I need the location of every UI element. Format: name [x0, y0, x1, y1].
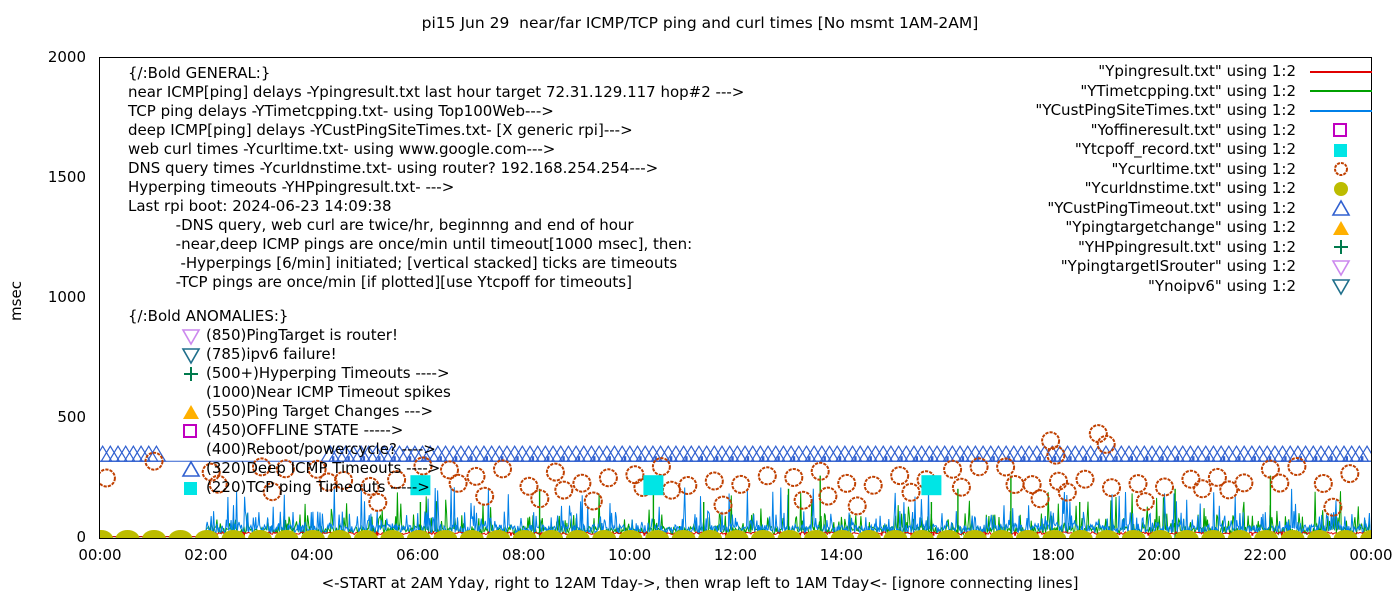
web-curl-time-marker: [865, 477, 882, 494]
legend-key-open-triangle-down-icon: [1304, 258, 1378, 276]
web-curl-time-marker: [663, 482, 680, 499]
near-icmp-tick: [1148, 533, 1150, 536]
annotation-line: -Hyperpings [6/min] initiated; [vertical…: [128, 254, 744, 273]
deep-icmp-timeout-stack: [516, 456, 518, 461]
legend-entry-label: "YpingtargetISrouter" using 1:2: [1061, 257, 1296, 277]
legend-key-filled-square-icon: [1304, 141, 1378, 159]
y-tick-label: 500: [0, 410, 86, 425]
web-curl-time-marker: [99, 470, 115, 487]
legend-entry-label: "Ycurldnstime.txt" using 1:2: [1085, 179, 1296, 199]
legend-entry[interactable]: "YCustPingSiteTimes.txt" using 1:2: [958, 101, 1378, 121]
deep-icmp-timeout-stack: [1069, 456, 1071, 461]
x-tick-label: 12:00: [696, 546, 776, 564]
y-tick-label: 1000: [0, 290, 86, 305]
web-curl-time-marker: [1235, 474, 1252, 491]
web-curl-time-marker: [1077, 471, 1094, 488]
annotation-line: Hyperping timeouts -YHPpingresult.txt- -…: [128, 178, 744, 197]
web-curl-time-marker: [1103, 479, 1120, 496]
deep-icmp-timeout-stack: [839, 456, 841, 461]
web-curl-time-marker: [1324, 499, 1341, 516]
y-tick-label: 0: [0, 530, 86, 545]
deep-icmp-timeout-stack: [854, 456, 856, 461]
x-tick-label: 02:00: [166, 546, 246, 564]
x-tick-label: 00:00: [60, 546, 140, 564]
anomaly-row: (500+)Hyperping Timeouts ---->: [128, 364, 451, 383]
legend-line-swatch: [1310, 90, 1372, 92]
legend-key-open-triangle-up-icon: [1304, 199, 1378, 217]
anomaly-row: (400)Reboot/powercycle? ---->: [128, 440, 451, 459]
anomaly-label: (220)TCP ping Timeouts ----->: [206, 478, 430, 497]
x-tick-label: 22:00: [1225, 546, 1305, 564]
deep-icmp-timeout-stack: [1085, 456, 1087, 461]
near-icmp-tick: [1014, 533, 1016, 536]
legend-entry[interactable]: "YCustPingTimeout.txt" using 1:2: [958, 199, 1378, 219]
dns-query-time-marker: [407, 530, 431, 539]
deep-icmp-timeout-stack: [824, 456, 826, 461]
x-axis-label: <-START at 2AM Yday, right to 12AM Tday-…: [0, 574, 1400, 592]
dns-query-time-marker: [1228, 530, 1252, 539]
legend-entry[interactable]: "Ypingresult.txt" using 1:2: [958, 62, 1378, 82]
deep-icmp-timeout-stack: [1039, 456, 1041, 461]
web-curl-time-marker: [521, 478, 538, 495]
deep-icmp-timeout-stack: [962, 456, 964, 461]
legend-entry[interactable]: "YTimetcpping.txt" using 1:2: [958, 82, 1378, 102]
annotation-heading-anomalies: {/:Bold ANOMALIES:}: [128, 307, 451, 326]
annotation-line: DNS query times -Ycurldnstime.txt- using…: [128, 159, 744, 178]
anomaly-label: (785)ipv6 failure!: [206, 345, 337, 364]
deep-icmp-timeout-stack: [532, 456, 534, 461]
web-curl-time-marker: [626, 466, 643, 483]
deep-icmp-timeout-stack: [593, 456, 595, 461]
annotation-line: Last rpi boot: 2024-06-23 14:09:38: [128, 197, 744, 216]
anomaly-filled-square-icon: [128, 479, 206, 497]
legend-key-line-icon: [1304, 90, 1378, 92]
x-tick-label: 14:00: [801, 546, 881, 564]
annotation-line: -DNS query, web curl are twice/hr, begin…: [128, 216, 744, 235]
annotation-line: web curl times -Ycurltime.txt- using www…: [128, 140, 744, 159]
web-curl-time-marker: [573, 475, 590, 492]
legend-entry[interactable]: "Ytcpoff_record.txt" using 1:2: [958, 140, 1378, 160]
legend-entry[interactable]: "Ypingtargetchange" using 1:2: [958, 218, 1378, 238]
web-curl-time-marker: [476, 488, 493, 505]
deep-icmp-timeout-stack: [1054, 456, 1056, 461]
anomaly-row: (850)PingTarget is router!: [128, 326, 451, 345]
x-tick-label: 16:00: [907, 546, 987, 564]
deep-icmp-timeout-stack: [1115, 456, 1117, 461]
web-curl-time-marker: [1315, 475, 1332, 492]
legend-key-open-circle-icon: [1304, 160, 1378, 178]
annotations-anomalies: {/:Bold ANOMALIES:}(850)PingTarget is ro…: [128, 307, 451, 497]
deep-icmp-timeout-stack: [470, 456, 472, 461]
deep-icmp-timeout-stack: [946, 456, 948, 461]
deep-icmp-timeout-stack: [455, 456, 457, 461]
legend-key-line-icon: [1304, 71, 1378, 73]
deep-icmp-timeout-stack: [1284, 456, 1286, 461]
web-curl-time-marker: [903, 484, 920, 501]
y-tick-label: 1500: [0, 170, 86, 185]
web-curl-time-marker: [1341, 465, 1358, 482]
dns-query-time-marker: [99, 530, 113, 539]
web-curl-time-marker: [795, 492, 812, 509]
deep-icmp-timeout-stack: [885, 456, 887, 461]
web-curl-time-marker: [1032, 490, 1049, 507]
anomaly-label: (450)OFFLINE STATE ----->: [206, 421, 403, 440]
web-curl-time-marker: [1182, 471, 1199, 488]
anomaly-open-triangle-up-icon: [128, 460, 206, 478]
tcp-ping-timeout-marker: [643, 475, 663, 495]
legend-key-filled-triangle-up-icon: [1304, 219, 1378, 237]
deep-icmp-timeout-stack: [624, 456, 626, 461]
near-icmp-tick: [1251, 533, 1253, 536]
web-curl-time-marker: [944, 461, 961, 478]
web-curl-time-marker: [1137, 493, 1154, 510]
anomaly-row: (785)ipv6 failure!: [128, 345, 451, 364]
deep-icmp-timeout-stack: [1238, 456, 1240, 461]
deep-icmp-timeout-stack: [1146, 456, 1148, 461]
web-curl-time-marker: [706, 473, 723, 490]
x-tick-label: 20:00: [1119, 546, 1199, 564]
series-line-tcp-ping-delays: [100, 491, 1371, 536]
deep-icmp-timeout-stack: [1361, 456, 1363, 461]
anomaly-row: (450)OFFLINE STATE ----->: [128, 421, 451, 440]
annotations-general: {/:Bold GENERAL:}near ICMP[ping] delays …: [128, 64, 744, 292]
legend-entry[interactable]: "Ycurltime.txt" using 1:2: [958, 160, 1378, 180]
web-curl-time-marker: [1156, 479, 1173, 496]
legend-entry-label: "YCustPingTimeout.txt" using 1:2: [1047, 199, 1296, 219]
deep-icmp-timeout-stack: [870, 456, 872, 461]
legend-key-filled-circle-icon: [1304, 180, 1378, 198]
web-curl-time-marker: [679, 477, 696, 494]
dns-query-time-marker: [989, 530, 1013, 539]
web-curl-time-marker: [1209, 469, 1226, 486]
annotation-line: -TCP pings are once/min [if plotted][use…: [128, 273, 744, 292]
dns-query-time-marker: [619, 530, 643, 539]
x-tick-label: 00:00: [1331, 546, 1400, 564]
anomaly-label: (1000)Near ICMP Timeout spikes: [206, 383, 451, 402]
web-curl-time-marker: [450, 475, 467, 492]
web-curl-time-marker: [547, 464, 564, 481]
anomaly-label: (850)PingTarget is router!: [206, 326, 398, 345]
annotation-line: TCP ping delays -YTimetcpping.txt- using…: [128, 102, 744, 121]
deep-icmp-timeout-stack: [1254, 456, 1256, 461]
web-curl-time-marker: [1194, 480, 1211, 497]
deep-icmp-timeout-stack: [701, 456, 703, 461]
web-curl-time-marker: [1007, 476, 1024, 493]
anomaly-plus-icon: [128, 365, 206, 383]
deep-icmp-timeout-stack: [639, 456, 641, 461]
deep-icmp-timeout-stack: [762, 456, 764, 461]
anomaly-open-triangle-down-icon: [128, 327, 206, 345]
web-curl-time-marker: [1024, 476, 1041, 493]
dns-query-time-marker: [116, 530, 140, 539]
deep-icmp-timeout-stack: [1223, 456, 1225, 461]
web-curl-time-marker: [785, 469, 802, 486]
legend-entry-label: "YTimetcpping.txt" using 1:2: [1080, 82, 1296, 102]
x-tick-label: 08:00: [484, 546, 564, 564]
chart-root: pi15 Jun 29 near/far ICMP/TCP ping and c…: [0, 0, 1400, 600]
deep-icmp-timeout-stack: [747, 456, 749, 461]
legend-entry[interactable]: "Ycurldnstime.txt" using 1:2: [958, 179, 1378, 199]
dns-query-time-marker: [169, 530, 193, 539]
anomaly-row: (1000)Near ICMP Timeout spikes: [128, 383, 451, 402]
deep-icmp-timeout-stack: [562, 456, 564, 461]
web-curl-time-marker: [819, 488, 836, 505]
deep-icmp-timeout-stack: [900, 456, 902, 461]
web-curl-time-marker: [953, 479, 970, 496]
deep-icmp-timeout-stack: [685, 456, 687, 461]
anomaly-label: (500+)Hyperping Timeouts ---->: [206, 364, 450, 383]
deep-icmp-timeout-stack: [1023, 456, 1025, 461]
deep-icmp-timeout-stack: [486, 456, 488, 461]
deep-icmp-timeout-stack: [1192, 456, 1194, 461]
x-tick-label: 06:00: [378, 546, 458, 564]
web-curl-time-marker: [600, 469, 617, 486]
legend-line-swatch: [1310, 71, 1372, 73]
legend-entry-label: "YCustPingSiteTimes.txt" using 1:2: [1035, 101, 1296, 121]
dns-query-time-marker: [1069, 530, 1093, 539]
anomaly-label: (400)Reboot/powercycle? ---->: [206, 440, 436, 459]
legend-key-open-triangle-down-icon: [1304, 277, 1378, 295]
annotation-heading-general: {/:Bold GENERAL:}: [128, 64, 744, 83]
deep-icmp-timeout-stack: [808, 456, 810, 461]
legend-key-plus-icon: [1304, 238, 1378, 256]
deep-icmp-timeout-stack: [1161, 456, 1163, 461]
anomaly-label: (550)Ping Target Changes --->: [206, 402, 433, 421]
web-curl-time-marker: [891, 467, 908, 484]
web-curl-time-marker: [468, 468, 485, 485]
annotation-line: near ICMP[ping] delays -Ypingresult.txt …: [128, 83, 744, 102]
deep-icmp-timeout-stack: [547, 456, 549, 461]
legend-entry[interactable]: "Ynoipv6" using 1:2: [958, 277, 1378, 297]
near-icmp-tick: [643, 533, 645, 536]
deep-icmp-timeout-stack: [609, 456, 611, 461]
deep-icmp-timeout-stack: [1207, 456, 1209, 461]
legend-entry-label: "YHPpingresult.txt" using 1:2: [1078, 238, 1296, 258]
deep-icmp-timeout-stack: [1330, 456, 1332, 461]
anomaly-open-triangle-down-icon: [128, 346, 206, 364]
legend-entry-label: "Ypingresult.txt" using 1:2: [1098, 62, 1296, 82]
deep-icmp-timeout-stack: [793, 456, 795, 461]
web-curl-time-marker: [1130, 475, 1147, 492]
dns-query-time-marker: [804, 530, 828, 539]
web-curl-time-marker: [494, 460, 511, 477]
deep-icmp-timeout-stack: [916, 456, 918, 461]
legend-entry[interactable]: "YpingtargetISrouter" using 1:2: [958, 257, 1378, 277]
web-curl-time-marker: [732, 476, 749, 493]
anomaly-row: (550)Ping Target Changes --->: [128, 402, 451, 421]
deep-icmp-timeout-stack: [670, 456, 672, 461]
deep-icmp-timeout-stack: [777, 456, 779, 461]
tcp-ping-timeout-marker: [921, 475, 941, 495]
near-icmp-tick: [510, 533, 512, 536]
deep-icmp-timeout-stack: [1346, 456, 1348, 461]
deep-icmp-timeout-stack: [1315, 456, 1317, 461]
web-curl-time-marker: [759, 467, 776, 484]
legend-entry[interactable]: "YHPpingresult.txt" using 1:2: [958, 238, 1378, 258]
dns-query-time-marker: [248, 530, 272, 539]
web-curl-time-marker: [1050, 473, 1067, 490]
deep-icmp-timeout-stack: [931, 456, 933, 461]
web-curl-time-marker: [849, 497, 866, 514]
web-curl-time-marker: [1271, 475, 1288, 492]
dns-query-time-marker: [142, 530, 166, 539]
legend-entry-label: "Ycurltime.txt" using 1:2: [1111, 160, 1296, 180]
legend: "Ypingresult.txt" using 1:2"YTimetcpping…: [958, 62, 1378, 296]
deep-icmp-timeout-stack: [1100, 456, 1102, 461]
anomaly-row: (320)Deep ICMP Timeouts ---->: [128, 459, 451, 478]
legend-key-line-icon: [1304, 110, 1378, 112]
anomaly-label: (320)Deep ICMP Timeouts ---->: [206, 459, 440, 478]
anomaly-open-square-icon: [128, 422, 206, 440]
deep-icmp-timeout-stack: [731, 456, 733, 461]
y-tick-label: 2000: [0, 50, 86, 65]
deep-icmp-timeout-stack: [1131, 456, 1133, 461]
x-tick-label: 18:00: [1013, 546, 1093, 564]
legend-entry-label: "Yoffineresult.txt" using 1:2: [1091, 121, 1296, 141]
web-curl-time-marker: [555, 482, 572, 499]
anomaly-filled-triangle-up-icon: [128, 403, 206, 421]
web-curl-time-marker: [1220, 481, 1237, 498]
deep-icmp-timeout-stack: [1177, 456, 1179, 461]
legend-key-open-square-icon: [1304, 121, 1378, 139]
x-tick-label: 04:00: [272, 546, 352, 564]
deep-icmp-timeout-stack: [992, 456, 994, 461]
annotation-line: -near,deep ICMP pings are once/min until…: [128, 235, 744, 254]
legend-line-swatch: [1310, 110, 1372, 112]
chart-title: pi15 Jun 29 near/far ICMP/TCP ping and c…: [0, 14, 1400, 32]
deep-icmp-timeout-stack: [578, 456, 580, 461]
web-curl-time-marker: [838, 475, 855, 492]
legend-entry[interactable]: "Yoffineresult.txt" using 1:2: [958, 121, 1378, 141]
legend-entry-label: "Ynoipv6" using 1:2: [1148, 277, 1296, 297]
deep-icmp-timeout-stack: [716, 456, 718, 461]
annotation-line: deep ICMP[ping] delays -YCustPingSiteTim…: [128, 121, 744, 140]
near-icmp-tick: [881, 533, 883, 536]
legend-entry-label: "Ytcpoff_record.txt" using 1:2: [1075, 140, 1296, 160]
anomaly-row: (220)TCP ping Timeouts ----->: [128, 478, 451, 497]
x-tick-label: 10:00: [590, 546, 670, 564]
legend-entry-label: "Ypingtargetchange" using 1:2: [1065, 218, 1296, 238]
